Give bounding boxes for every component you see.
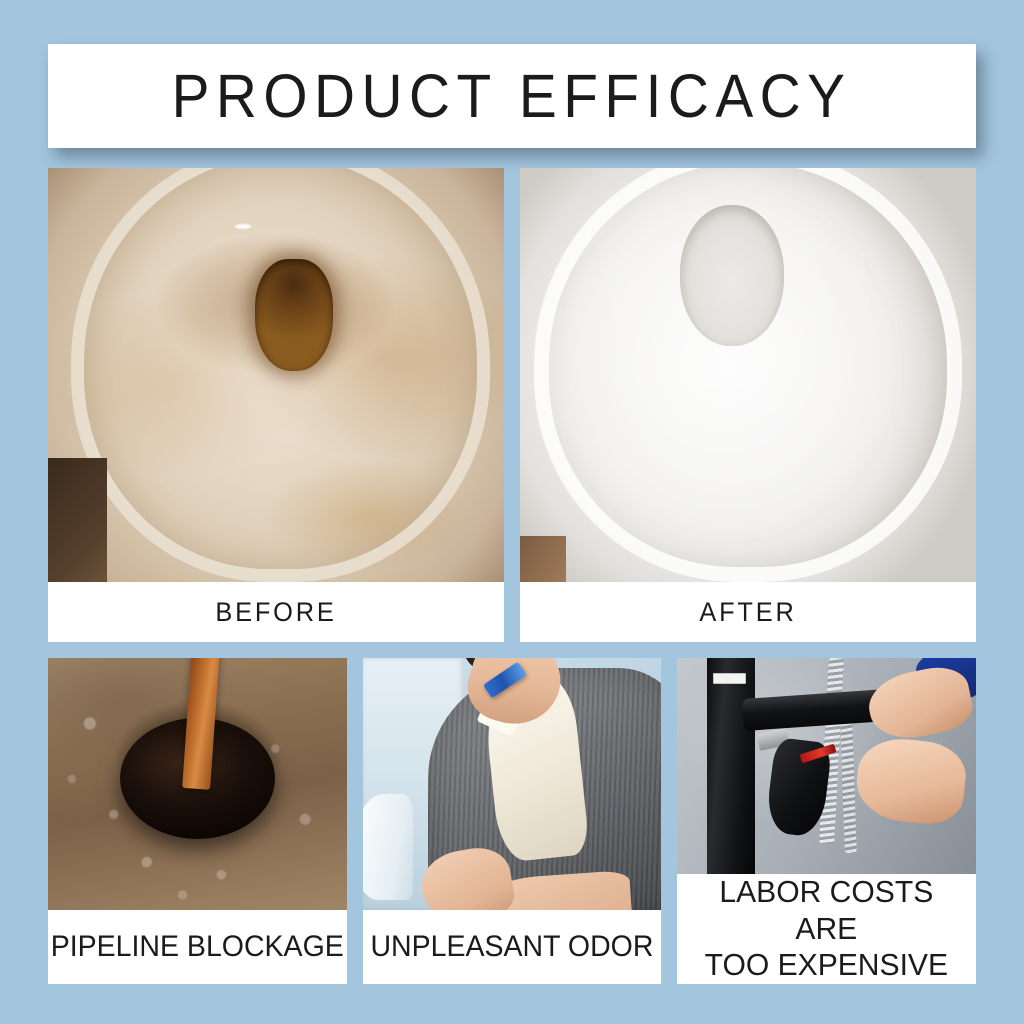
plumber-pipes-photo	[677, 658, 976, 874]
highlight-speck-icon	[235, 224, 251, 229]
toilet-edge	[363, 794, 414, 900]
plunger-clogged-drain-photo	[48, 658, 347, 910]
vertical-drain-pipe	[707, 658, 755, 874]
problem-caption-labor-costs: LABOR COSTS ARE TOO EXPENSIVE	[677, 874, 976, 984]
caption-line: PIPELINE BLOCKAGE	[51, 929, 344, 964]
foam-bubbles	[48, 658, 347, 910]
caption-line-1: LABOR COSTS ARE	[720, 874, 934, 946]
pipe-label	[713, 673, 746, 684]
problem-cell-labor-costs: LABOR COSTS ARE TOO EXPENSIVE	[677, 658, 976, 984]
stained-toilet-bowl-photo	[48, 168, 504, 582]
caption-line-2: TOO EXPENSIVE	[705, 947, 948, 982]
woman-nose-clip-photo	[363, 658, 662, 910]
caption-line: LABOR COSTS ARE TOO EXPENSIVE	[686, 874, 968, 984]
before-label: BEFORE	[62, 582, 491, 642]
floor-corner	[48, 458, 107, 582]
problems-row: PIPELINE BLOCKAGE UNPLEASANT ODOR	[48, 658, 976, 984]
drain-hole	[696, 226, 769, 325]
before-cell: BEFORE	[48, 168, 504, 642]
problem-cell-pipeline-blockage: PIPELINE BLOCKAGE	[48, 658, 347, 984]
product-efficacy-poster: PRODUCT EFFICACY BEFORE AFTER PIPELIN	[0, 0, 1024, 1024]
floor-corner	[520, 536, 566, 582]
after-label: AFTER	[534, 582, 963, 642]
problem-caption-pipeline-blockage: PIPELINE BLOCKAGE	[48, 910, 347, 984]
before-after-row: BEFORE AFTER	[48, 168, 976, 642]
after-cell: AFTER	[520, 168, 976, 642]
page-title: PRODUCT EFFICACY	[172, 61, 852, 131]
problem-cell-unpleasant-odor: UNPLEASANT ODOR	[363, 658, 662, 984]
caption-line: UNPLEASANT ODOR	[371, 929, 654, 964]
clean-toilet-bowl-photo	[520, 168, 976, 582]
title-card: PRODUCT EFFICACY	[48, 44, 976, 148]
problem-caption-unpleasant-odor: UNPLEASANT ODOR	[363, 910, 662, 984]
